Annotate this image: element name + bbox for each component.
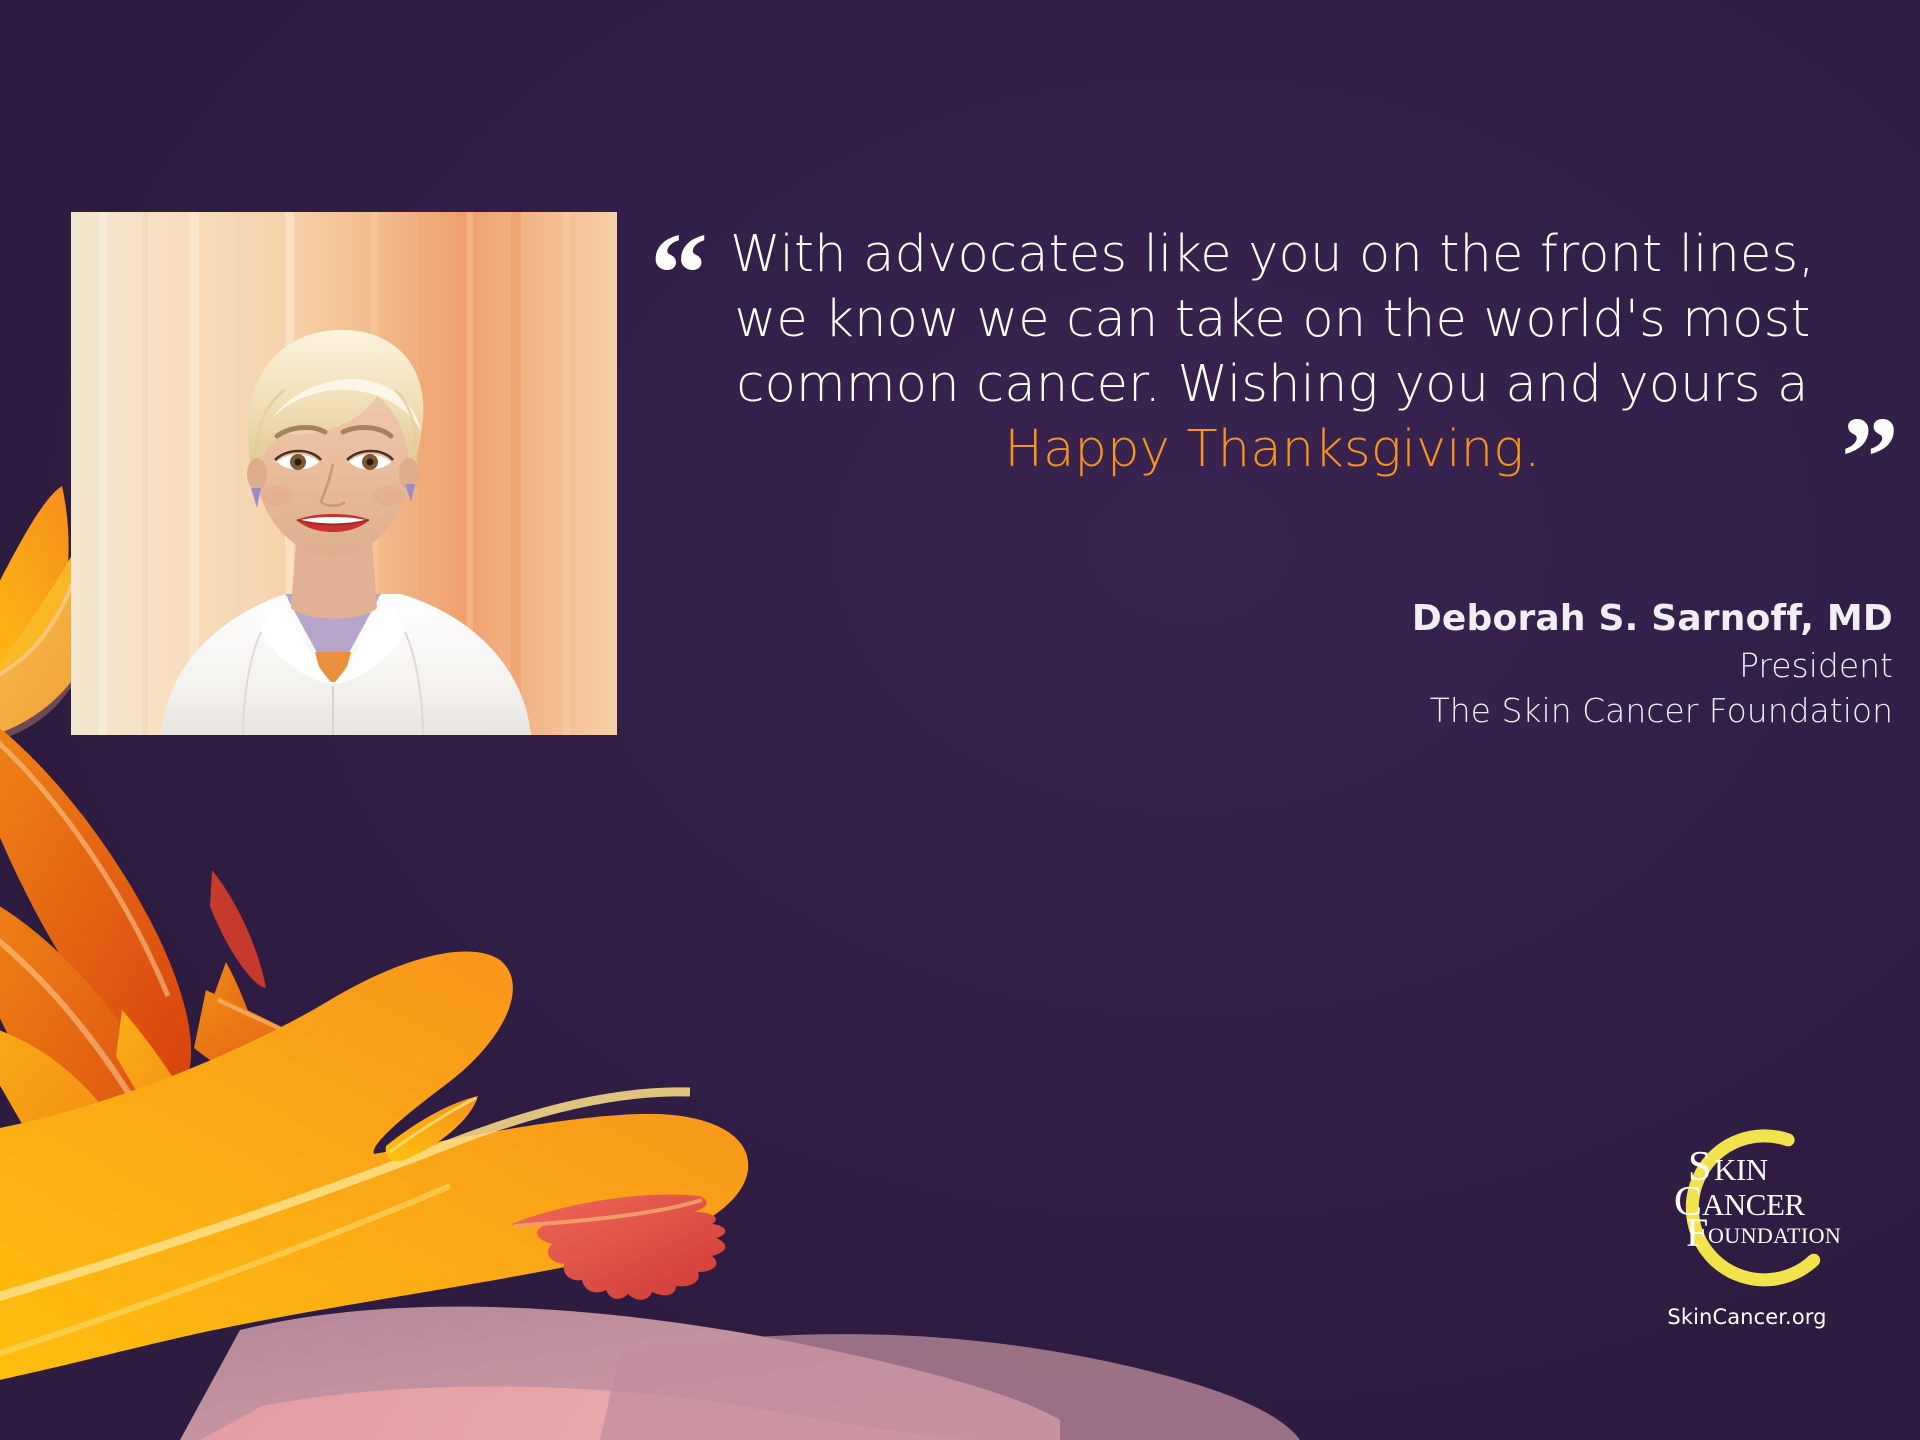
leaf-left-red-accent — [210, 870, 266, 988]
shape-mauve-sweep-right — [600, 1334, 1300, 1440]
leaf-left-deep-orange — [0, 700, 191, 1096]
svg-text:ANCER: ANCER — [1702, 1187, 1805, 1222]
quote-line-1: With advocates like you on the front — [730, 225, 1662, 284]
quote-block: “ With advocates like you on the front l… — [648, 222, 1893, 482]
poster-canvas: “ With advocates like you on the front l… — [0, 0, 1920, 1440]
svg-text:KIN: KIN — [1714, 1152, 1768, 1187]
leaf-cluster-bottom-left — [0, 880, 748, 1396]
quote-text: With advocates like you on the front lin… — [648, 222, 1893, 482]
quote-line-4-prefix: you and yours a — [1395, 355, 1809, 414]
skin-cancer-foundation-logo[interactable]: S KIN C ANCER F OUNDATION SkinCancer.org — [1622, 1124, 1872, 1369]
attribution: Deborah S. Sarnoff, MD President The Ski… — [760, 595, 1893, 733]
shape-mauve-sweep — [180, 1307, 1060, 1440]
attribution-name: Deborah S. Sarnoff, MD — [760, 595, 1893, 643]
logo-mark-icon: S KIN C ANCER F OUNDATION — [1652, 1124, 1842, 1299]
svg-text:F: F — [1686, 1210, 1707, 1255]
quote-close-icon: ” — [1841, 400, 1899, 516]
attribution-role: President — [760, 643, 1893, 688]
logo-url[interactable]: SkinCancer.org — [1622, 1305, 1872, 1329]
attribution-organization: The Skin Cancer Foundation — [760, 688, 1893, 733]
svg-text:OUNDATION: OUNDATION — [1708, 1223, 1841, 1248]
leaf-floating-yellow — [386, 1096, 478, 1161]
portrait-photo — [71, 212, 617, 735]
quote-highlight: Happy Thanksgiving. — [1005, 420, 1541, 479]
leaf-floating-red — [512, 1195, 725, 1300]
